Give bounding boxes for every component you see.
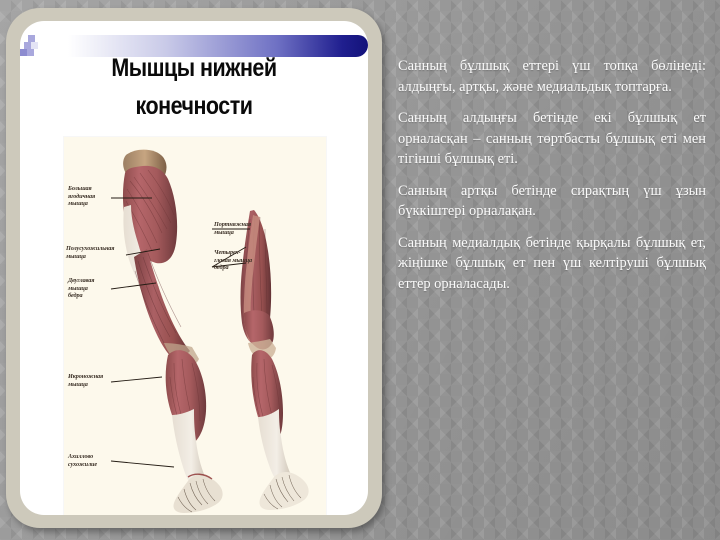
- figure-label-biceps-femoris: Двуглавая мышца бедра: [68, 277, 112, 300]
- figure-label-quadriceps-femoris: Четырех- главая мышца бедра: [214, 249, 270, 272]
- figure-label-gastrocnemius: Икроножная мышца: [68, 373, 116, 388]
- title-picture-card: Мышцы нижней конечности человека: [6, 8, 382, 528]
- anatomy-picture-panel: Большая ягодичная мышца Полусухожильная …: [64, 137, 326, 515]
- figure-label-achilles-tendon: Ахиллово сухожилие: [68, 453, 114, 468]
- figure-label-semitendinosus: Полусухожильная мышца: [66, 245, 126, 260]
- figure-label-gluteus-maximus: Большая ягодичная мышца: [68, 185, 112, 208]
- body-paragraph: Санның медиалдық бетінде қырқалы бұлшық …: [398, 233, 706, 295]
- accent-square-icon: [20, 49, 27, 56]
- accent-square-icon: [24, 42, 31, 49]
- body-paragraph: Санның артқы бетінде сирақтың үш ұзын бү…: [398, 181, 706, 222]
- card-inner-surface: Мышцы нижней конечности человека: [20, 21, 368, 515]
- body-paragraph: Санның бұлшық еттері үш топқа бөлінеді: …: [398, 56, 706, 97]
- accent-square-icon: [35, 35, 42, 42]
- accent-square-icon: [31, 42, 38, 49]
- figure-label-sartorius: Портняжная мышца: [214, 221, 270, 236]
- body-paragraph: Санның алдыңғы бетінде екі бұлшық ет орн…: [398, 108, 706, 170]
- accent-square-icon: [28, 35, 35, 42]
- accent-square-icon: [27, 49, 34, 56]
- figure-posterior-leg: [123, 150, 223, 513]
- body-text-column: Санның бұлшық еттері үш топқа бөлінеді: …: [398, 56, 706, 294]
